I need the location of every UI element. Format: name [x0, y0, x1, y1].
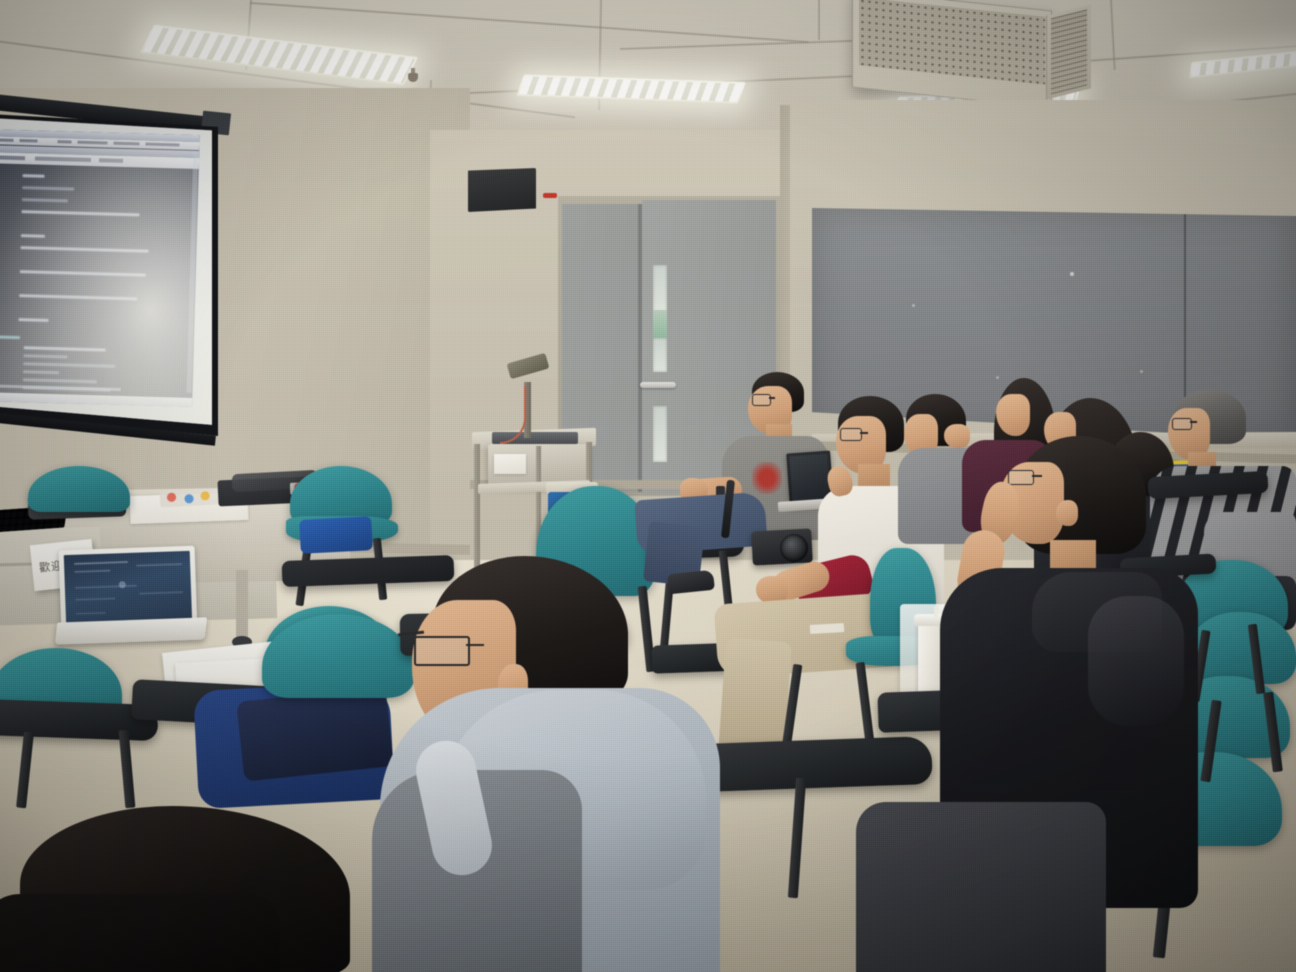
- person-black-jacket: [0, 894, 280, 972]
- wall-speaker-icon: [468, 168, 536, 212]
- trouser-logo: [810, 623, 844, 634]
- laptop-screen: [64, 551, 193, 629]
- ceiling-air-duct-side: [1046, 4, 1091, 99]
- eyeglasses: [840, 428, 862, 441]
- door-vision-panel-bottom: [653, 406, 667, 462]
- person-ear: [1056, 500, 1078, 526]
- person-trousers-dark: [856, 802, 1106, 972]
- camera-lens: [780, 534, 808, 562]
- classroom-photo: 歡迎任取: [0, 0, 1296, 972]
- jacket-shoulder-highlight: [1088, 596, 1184, 726]
- tshirt-graphic: [752, 462, 782, 494]
- eyeglasses: [414, 636, 470, 666]
- door-vision-panel-lower-upper: [653, 338, 667, 372]
- ceiling-grid-line: [818, 0, 820, 40]
- eyeglasses-bridge: [769, 397, 775, 399]
- blue-backpack: [299, 516, 373, 554]
- door-handle[interactable]: [640, 382, 676, 388]
- cart-leg: [474, 444, 480, 584]
- projection-screen: [0, 114, 218, 436]
- sprinkler-icon: [408, 73, 418, 82]
- cup-straw: [934, 606, 938, 618]
- speaker-indicator-led: [543, 193, 557, 198]
- person-face: [996, 394, 1030, 436]
- eyeglasses-bridge: [466, 644, 484, 646]
- door-vision-panel-upper: [653, 265, 667, 315]
- eyeglasses-bridge: [860, 432, 868, 434]
- eyeglasses: [752, 394, 771, 406]
- side-table-leg: [236, 570, 248, 642]
- eyeglasses-bridge: [1190, 421, 1197, 423]
- tablet-arm-desk[interactable]: [699, 736, 933, 792]
- colored-flyers: [160, 488, 219, 507]
- eyeglasses: [1008, 470, 1034, 485]
- navy-jacket-fold: [236, 686, 394, 781]
- eyeglasses-bridge: [1032, 475, 1042, 477]
- screen-glare: [0, 118, 212, 428]
- eyeglasses: [1172, 418, 1192, 430]
- projector-label: [494, 454, 526, 474]
- person-hand: [944, 424, 970, 448]
